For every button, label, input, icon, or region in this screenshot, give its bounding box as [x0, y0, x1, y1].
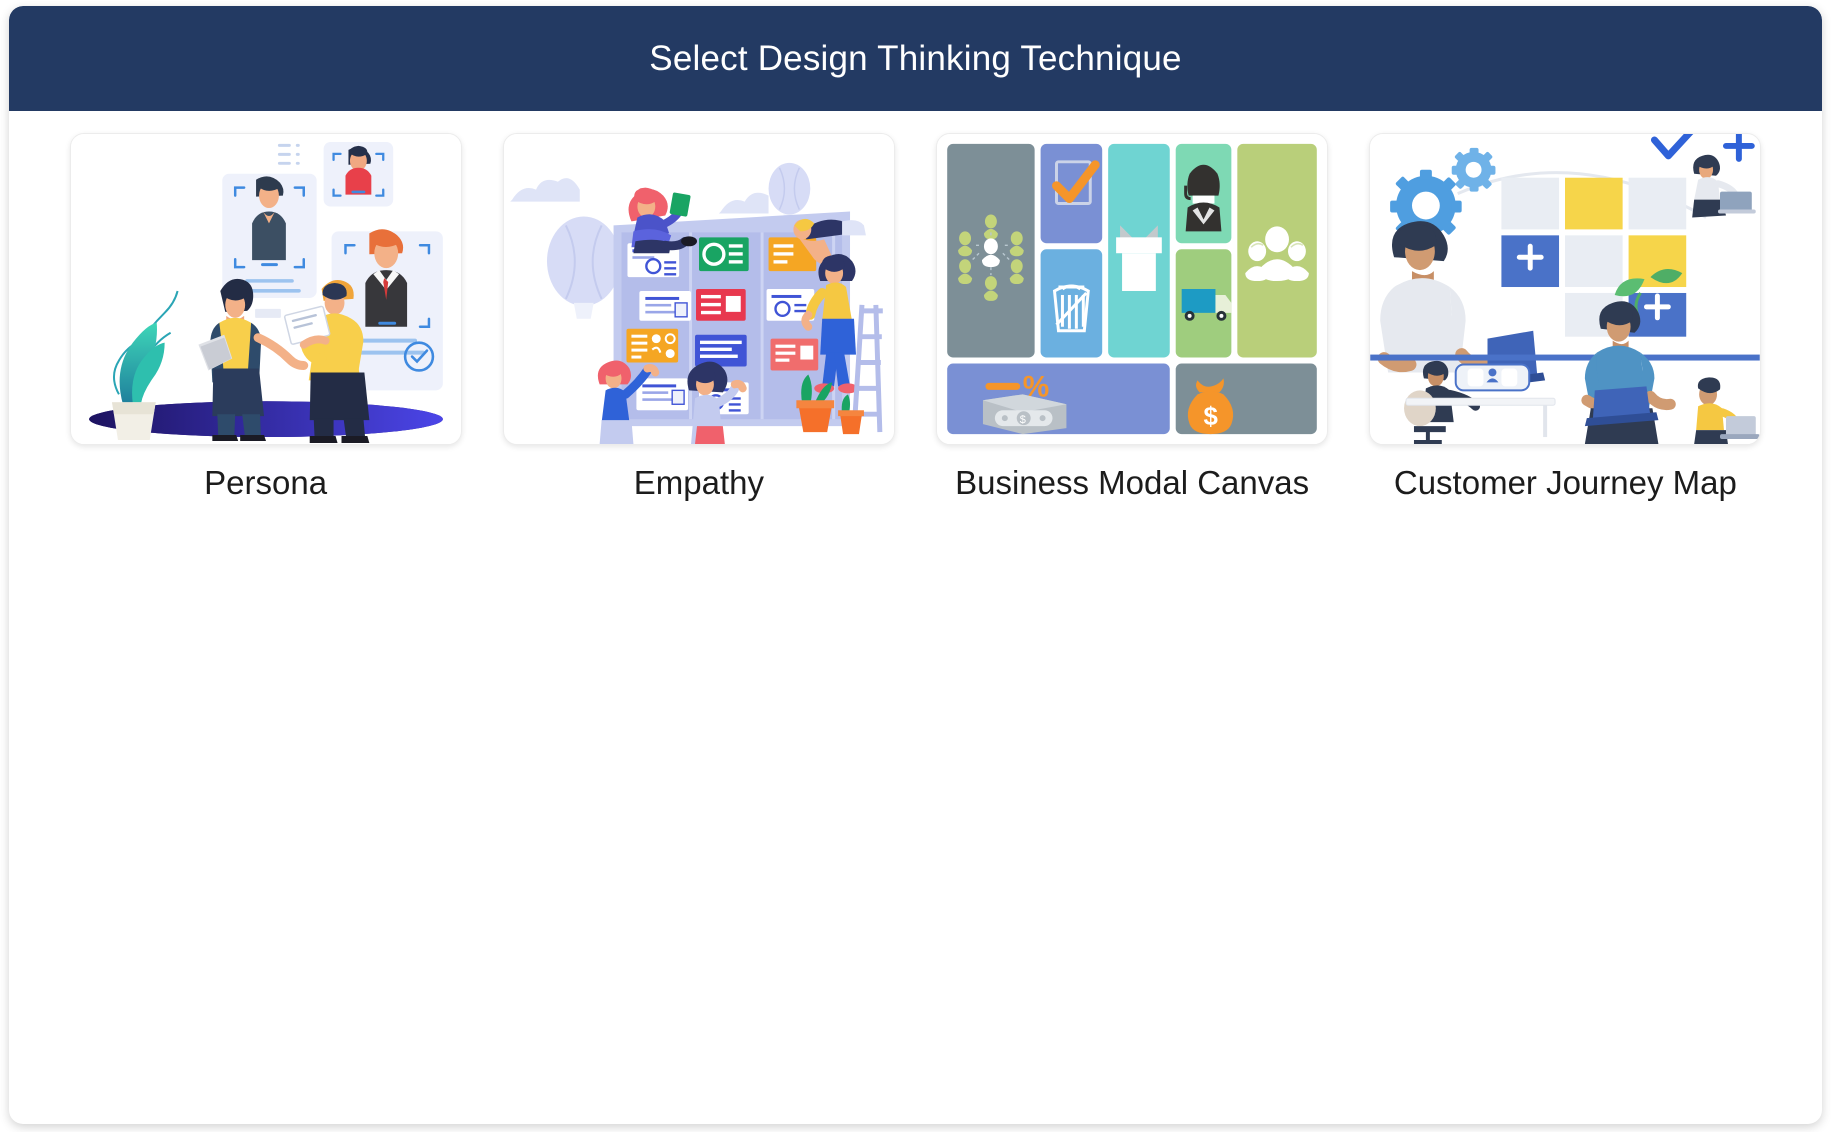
technique-label-business-modal-canvas: Business Modal Canvas: [955, 463, 1309, 504]
technique-card-grid: Persona: [49, 133, 1782, 504]
customer-journey-map-thumbnail[interactable]: [1369, 133, 1761, 445]
technique-card-persona[interactable]: Persona: [49, 133, 482, 504]
empathy-thumbnail[interactable]: [503, 133, 895, 445]
technique-card-customer-journey-map[interactable]: Customer Journey Map: [1349, 133, 1782, 504]
page-title: Select Design Thinking Technique: [649, 39, 1181, 79]
technique-card-business-modal-canvas[interactable]: % $ $: [916, 133, 1349, 504]
app-window: Select Design Thinking Technique: [9, 6, 1822, 1124]
technique-label-persona: Persona: [204, 463, 327, 504]
window-titlebar: Select Design Thinking Technique: [9, 6, 1822, 111]
svg-text:$: $: [1020, 414, 1026, 426]
technique-card-empathy[interactable]: Empathy: [482, 133, 915, 504]
persona-thumbnail[interactable]: [70, 133, 462, 445]
business-model-canvas-thumbnail[interactable]: % $ $: [936, 133, 1328, 445]
technique-label-customer-journey-map: Customer Journey Map: [1394, 463, 1737, 504]
svg-text:$: $: [1204, 403, 1218, 431]
technique-label-empathy: Empathy: [634, 463, 764, 504]
technique-picker: Persona: [9, 111, 1822, 504]
